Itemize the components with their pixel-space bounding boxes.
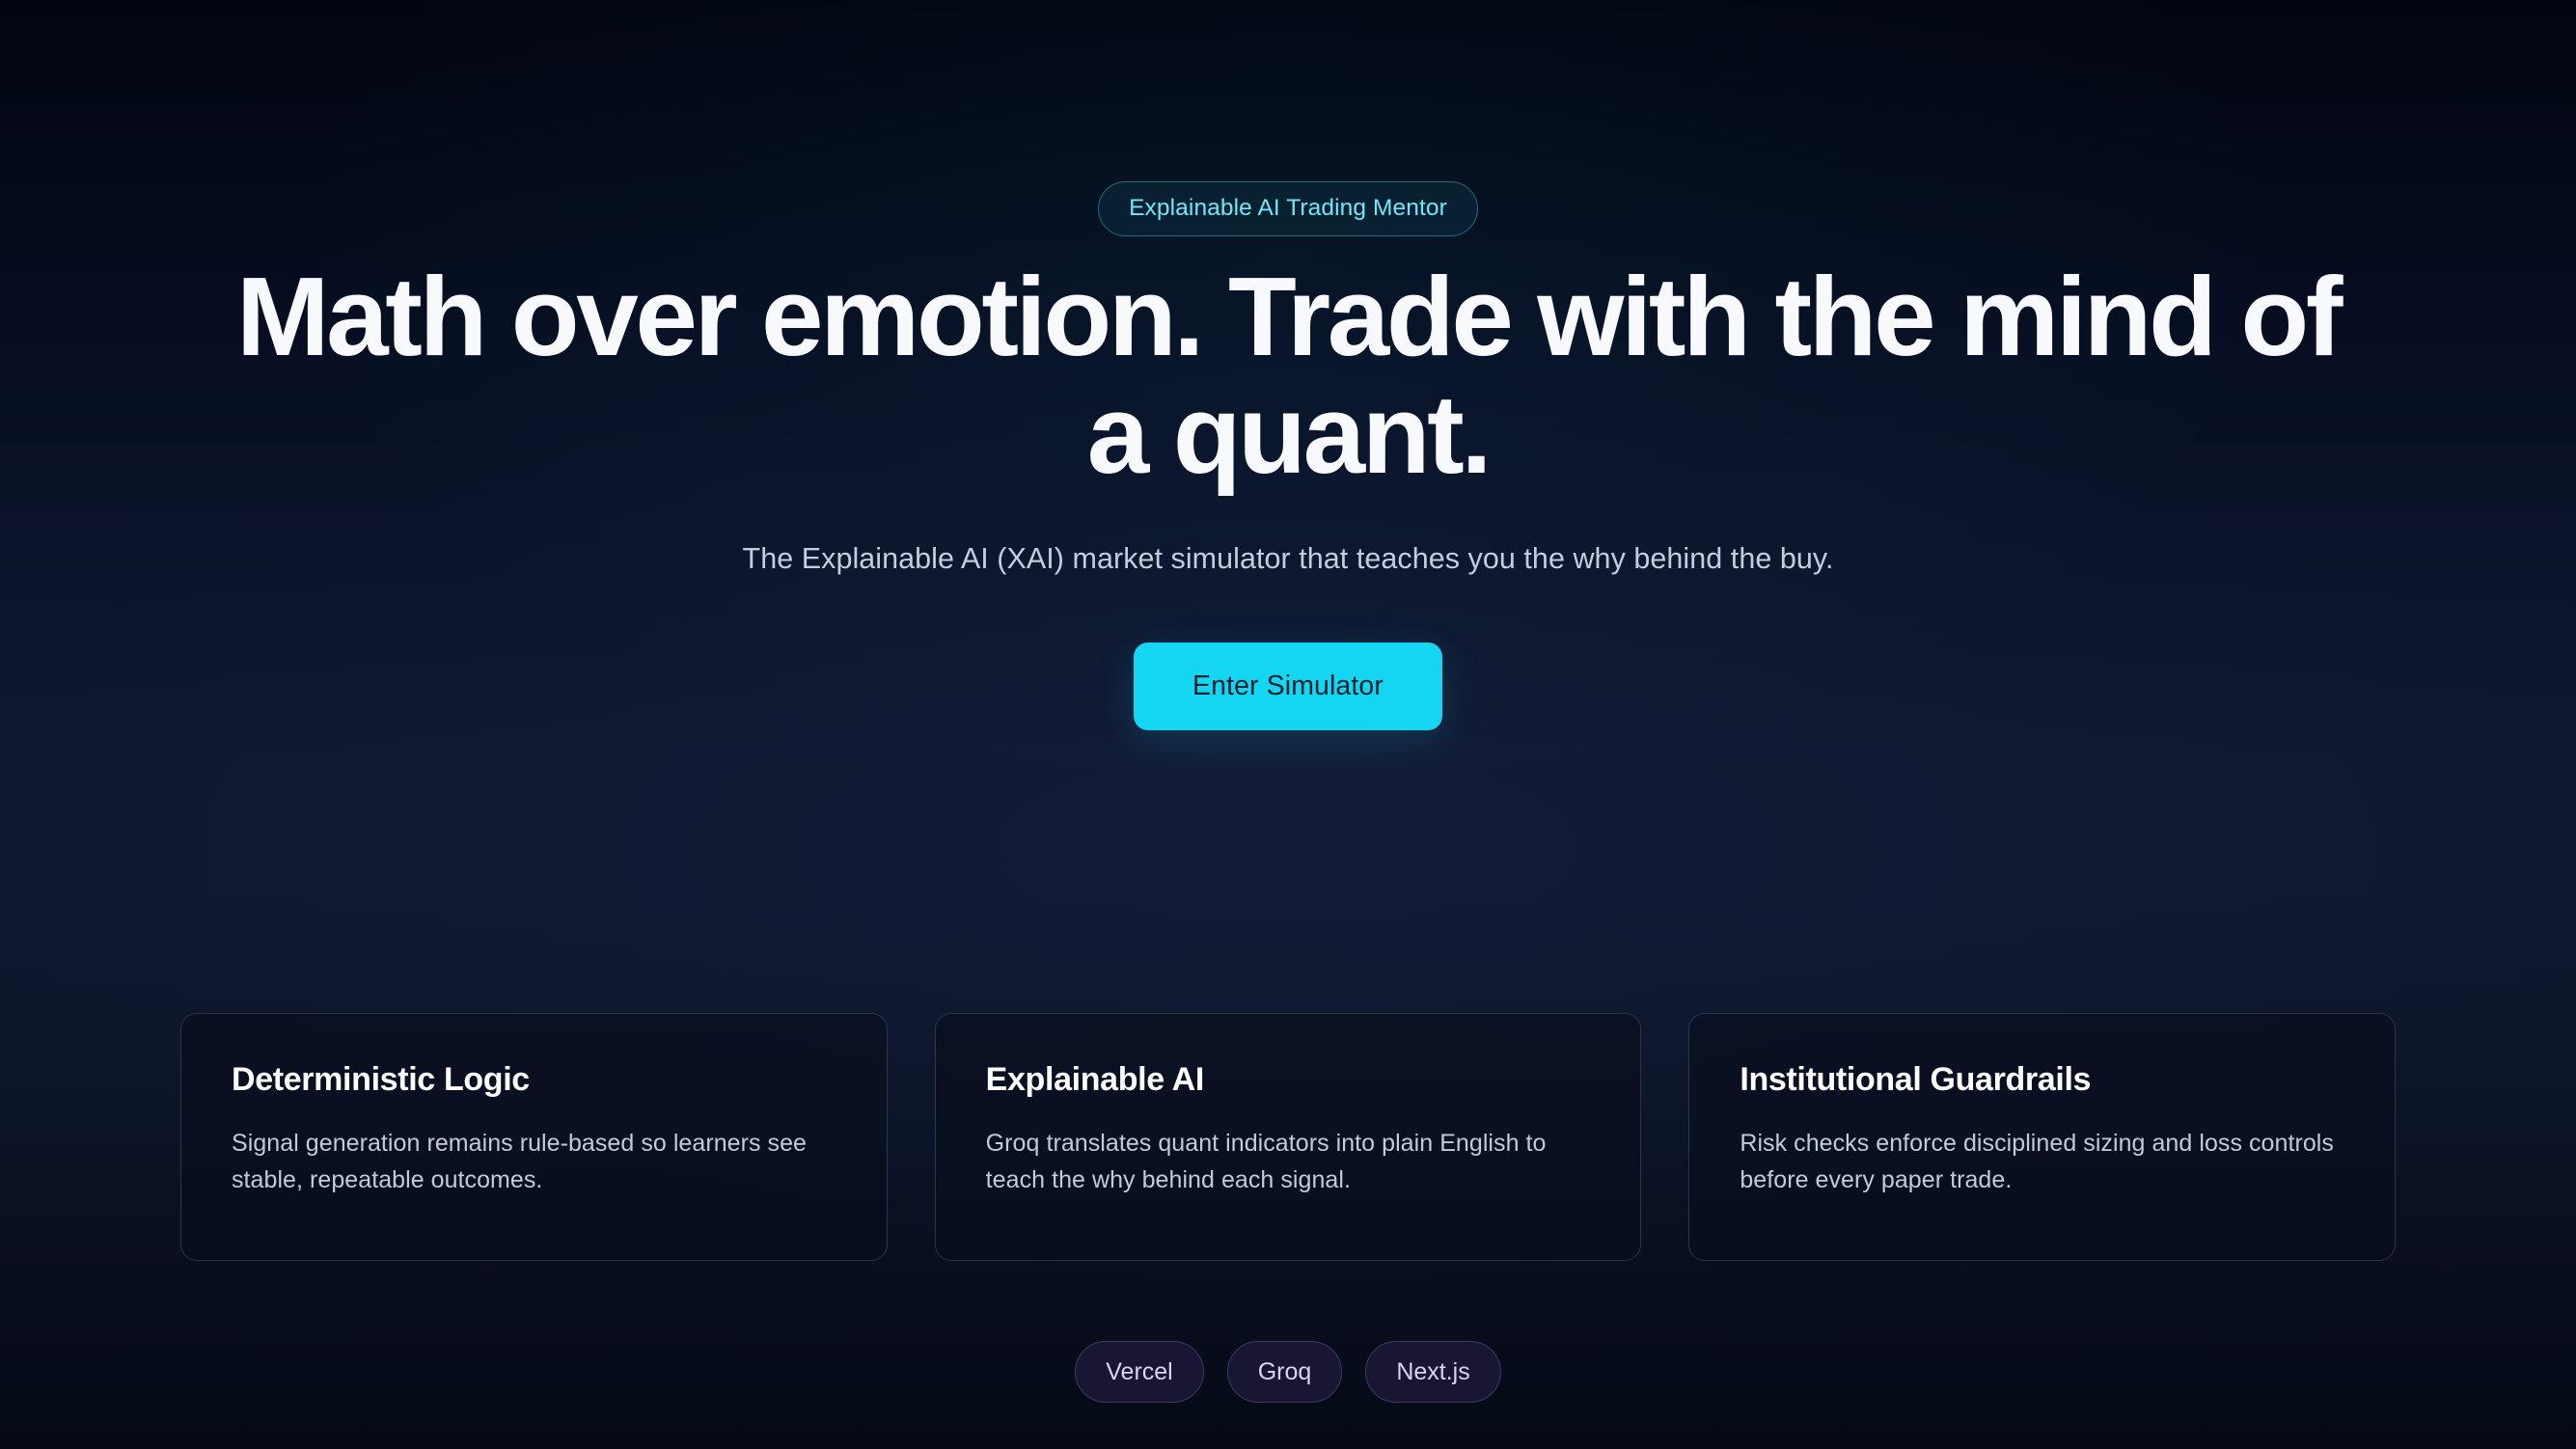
hero-subtitle: The Explainable AI (XAI) market simulato…: [613, 494, 1963, 582]
hero-cta-row: Enter Simulator: [0, 582, 2576, 730]
tech-stack-row: Vercel Groq Next.js: [0, 1341, 2576, 1403]
feature-card-body: Signal generation remains rule-based so …: [232, 1100, 836, 1198]
feature-card-grid: Deterministic Logic Signal generation re…: [180, 1013, 2396, 1261]
tech-pill-groq[interactable]: Groq: [1227, 1341, 1343, 1403]
hero-section: Explainable AI Trading Mentor Math over …: [0, 0, 2576, 730]
feature-card: Explainable AI Groq translates quant ind…: [935, 1013, 1642, 1261]
feature-card-title: Explainable AI: [986, 1060, 1591, 1100]
feature-card: Deterministic Logic Signal generation re…: [180, 1013, 888, 1261]
hero-eyebrow-badge: Explainable AI Trading Mentor: [1098, 181, 1478, 236]
feature-card-title: Deterministic Logic: [232, 1060, 836, 1100]
tech-pill-nextjs[interactable]: Next.js: [1365, 1341, 1500, 1403]
tech-pill-vercel[interactable]: Vercel: [1075, 1341, 1203, 1403]
feature-card: Institutional Guardrails Risk checks enf…: [1688, 1013, 2396, 1261]
hero-badge-row: Explainable AI Trading Mentor: [0, 0, 2576, 236]
enter-simulator-button[interactable]: Enter Simulator: [1134, 642, 1442, 730]
feature-card-body: Risk checks enforce disciplined sizing a…: [1740, 1100, 2344, 1198]
landing-page: Explainable AI Trading Mentor Math over …: [0, 0, 2576, 1449]
feature-card-title: Institutional Guardrails: [1740, 1060, 2344, 1100]
feature-card-body: Groq translates quant indicators into pl…: [986, 1100, 1591, 1198]
page-content: Explainable AI Trading Mentor Math over …: [0, 0, 2576, 1449]
page-title: Math over emotion. Trade with the mind o…: [203, 236, 2373, 494]
